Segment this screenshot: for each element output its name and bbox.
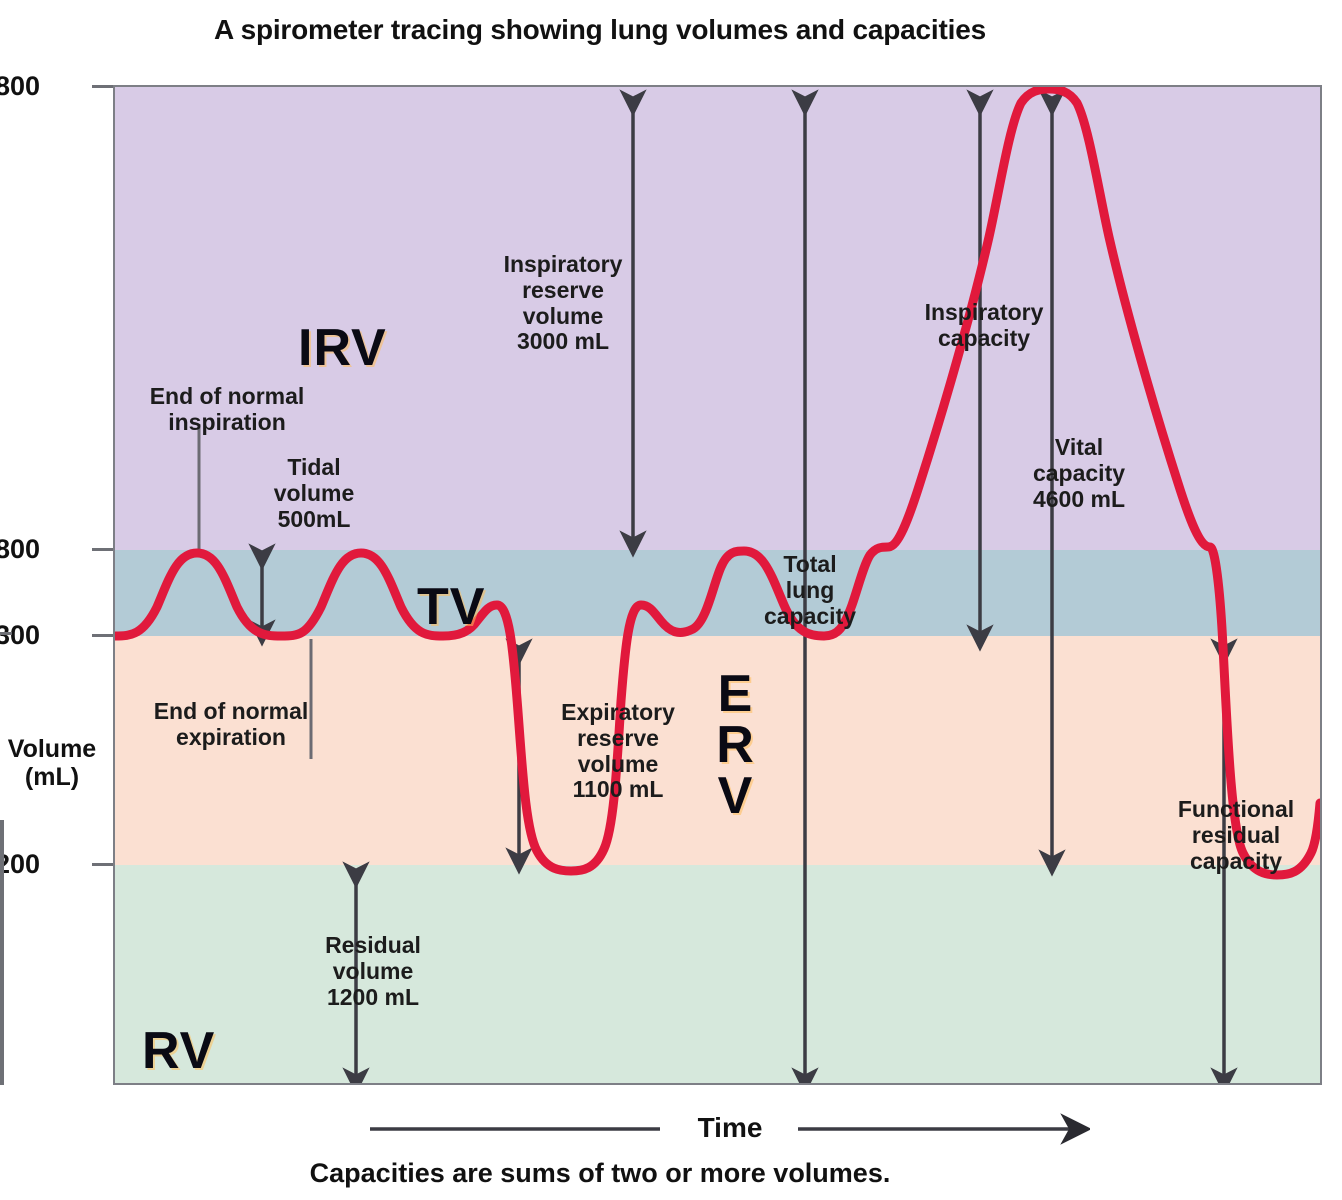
trace-joint — [1187, 539, 1203, 647]
annotation-functional-residual-capacity: Functional residual capacity — [1145, 797, 1322, 874]
label-tv-abbrev: TV — [417, 577, 485, 637]
x-axis-time: Time — [370, 1112, 1090, 1152]
x-axis-label: Time — [670, 1112, 790, 1144]
y-axis-label: Volume (mL) — [0, 735, 104, 791]
label-irv-abbrev: IRV — [298, 318, 387, 378]
label-rv-abbrev: RV — [142, 1021, 215, 1081]
annotation-tidal-volume: Tidal volume 500mL — [249, 455, 379, 532]
y-axis-label-line1: Volume — [8, 735, 96, 763]
left-edge-tick — [0, 632, 12, 635]
annotation-residual-volume: Residual volume 1200 mL — [291, 933, 455, 1010]
annotation-total-lung-capacity: Total lung capacity — [745, 552, 875, 629]
annotation-expiratory-reserve-volume: Expiratory reserve volume 1100 mL — [527, 700, 709, 803]
left-edge-bracket — [0, 820, 4, 1085]
annotation-inspiratory-capacity: Inspiratory capacity — [890, 300, 1078, 352]
spirometer-figure: A spirometer tracing showing lung volume… — [0, 0, 1342, 1200]
label-erv-abbrev: ERV — [705, 669, 765, 822]
figure-title: A spirometer tracing showing lung volume… — [0, 14, 1200, 46]
annotation-inspiratory-reserve-volume: Inspiratory reserve volume 3000 mL — [463, 252, 663, 355]
annotation-end-of-normal-inspiration: End of normal inspiration — [117, 384, 337, 436]
y-axis-label-line2: (mL) — [25, 763, 79, 791]
figure-caption: Capacities are sums of two or more volum… — [0, 1158, 1200, 1189]
y-tick-label-2300: 2300 — [0, 620, 40, 651]
annotation-vital-capacity: Vital capacity 4600 mL — [995, 435, 1163, 512]
y-tick-label-1200: 1200 — [0, 849, 40, 880]
y-tick-label-5800: 5800 — [0, 71, 40, 102]
plot-area: IRV TV ERV RV Inspiratory reserve volume… — [113, 85, 1322, 1085]
annotation-end-of-normal-expiration: End of normal expiration — [118, 699, 344, 751]
y-tick-label-2800: 2800 — [0, 534, 40, 565]
